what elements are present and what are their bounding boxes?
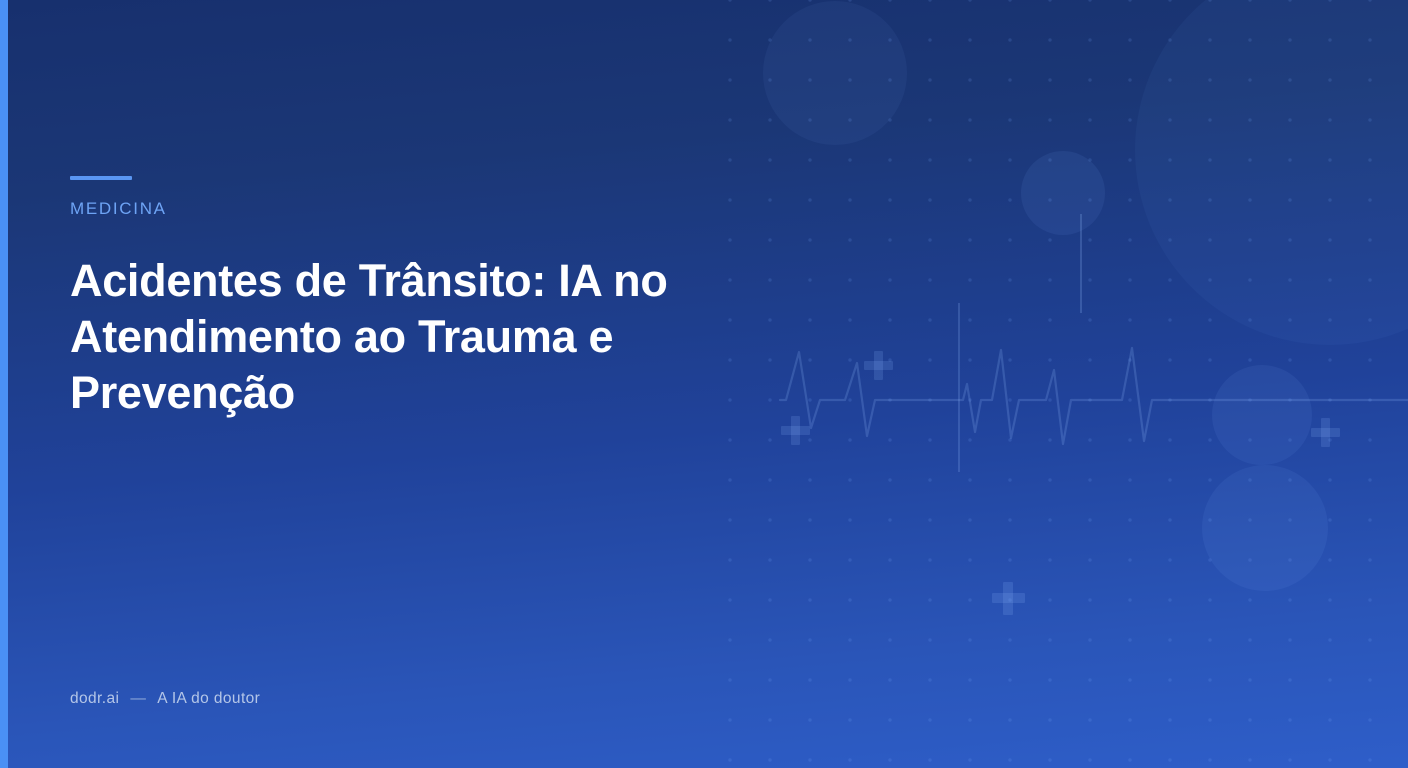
slide-content: MEDICINA Acidentes de Trânsito: IA no At…: [0, 0, 1408, 768]
footer-tagline: A IA do doutor: [157, 690, 260, 708]
footer-separator: —: [130, 690, 146, 708]
slide-footer: dodr.ai — A IA do doutor: [70, 690, 260, 708]
category-label: MEDICINA: [70, 199, 167, 219]
presentation-slide: MEDICINA Acidentes de Trânsito: IA no At…: [0, 0, 1408, 768]
slide-title: Acidentes de Trânsito: IA no Atendimento…: [70, 253, 730, 421]
left-edge-accent-bar: [0, 0, 8, 768]
kicker-rule: [70, 176, 132, 180]
footer-brand: dodr.ai: [70, 690, 119, 708]
